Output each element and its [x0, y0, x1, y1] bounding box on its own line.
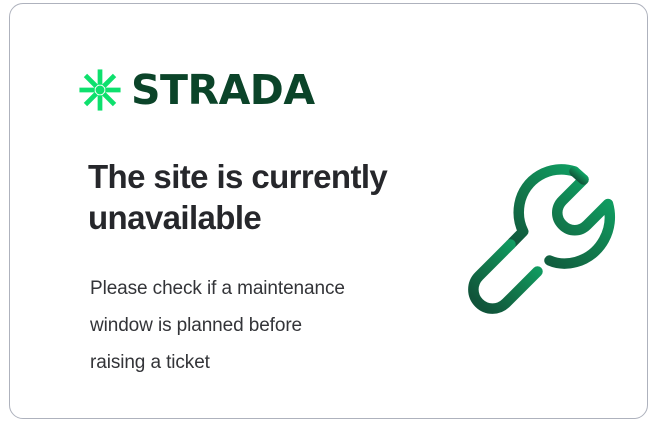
- brand-logo: STRADA: [79, 69, 315, 111]
- page-description: Please check if a maintenance window is …: [90, 270, 400, 381]
- error-page: STRADA The site is currently unavailable…: [0, 0, 666, 436]
- description-line: window is planned before: [90, 307, 400, 344]
- strada-asterisk-icon: [79, 69, 121, 111]
- description-line: raising a ticket: [90, 344, 400, 381]
- status-card: STRADA The site is currently unavailable…: [9, 3, 648, 419]
- description-line: Please check if a maintenance: [90, 270, 400, 307]
- brand-wordmark: STRADA: [131, 70, 315, 111]
- page-title: The site is currently unavailable: [88, 156, 428, 238]
- wrench-icon: [462, 154, 624, 314]
